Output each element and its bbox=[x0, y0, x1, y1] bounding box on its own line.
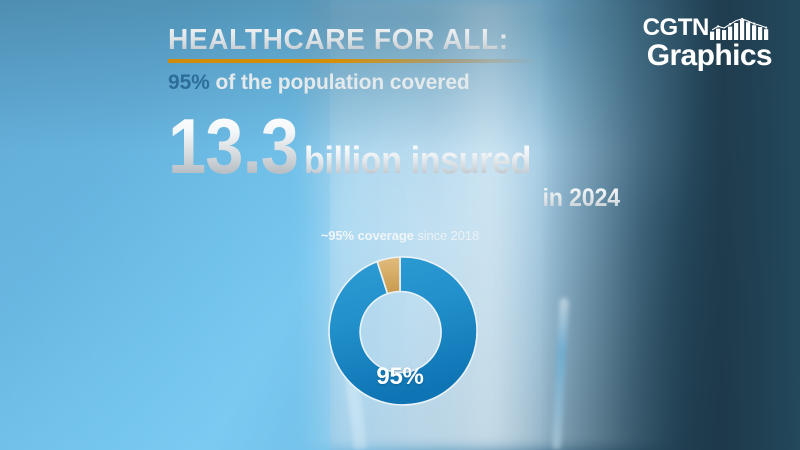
subline-highlight: 95% bbox=[168, 71, 210, 94]
donut-value-label: 95% bbox=[320, 363, 480, 391]
bar-chart-icon bbox=[710, 18, 772, 40]
donut-caption-light: since 2018 bbox=[417, 228, 479, 243]
headline-subline: 95% of the population covered bbox=[168, 71, 688, 95]
big-number-value: 13.3 bbox=[168, 110, 298, 182]
big-number-row: 13.3 billion insured bbox=[168, 110, 688, 182]
headline-block: HEALTHCARE FOR ALL: 95% of the populatio… bbox=[168, 24, 688, 95]
accent-divider bbox=[168, 59, 540, 63]
big-number-unit: billion insured bbox=[304, 141, 531, 181]
donut-chart-block: ~95% coverage since 2018 bbox=[260, 228, 540, 411]
big-number-year: in 2024 bbox=[200, 184, 620, 213]
big-number-block: 13.3 billion insured in 2024 bbox=[168, 110, 688, 213]
subline-rest: of the population covered bbox=[210, 71, 470, 94]
infographic-canvas: CGTN bbox=[0, 0, 800, 450]
donut-caption-bold: ~95% coverage bbox=[321, 228, 414, 243]
headline-kicker: HEALTHCARE FOR ALL: bbox=[168, 24, 672, 56]
donut-chart-caption: ~95% coverage since 2018 bbox=[260, 228, 540, 243]
donut-chart-graphic: 95% bbox=[320, 251, 480, 411]
